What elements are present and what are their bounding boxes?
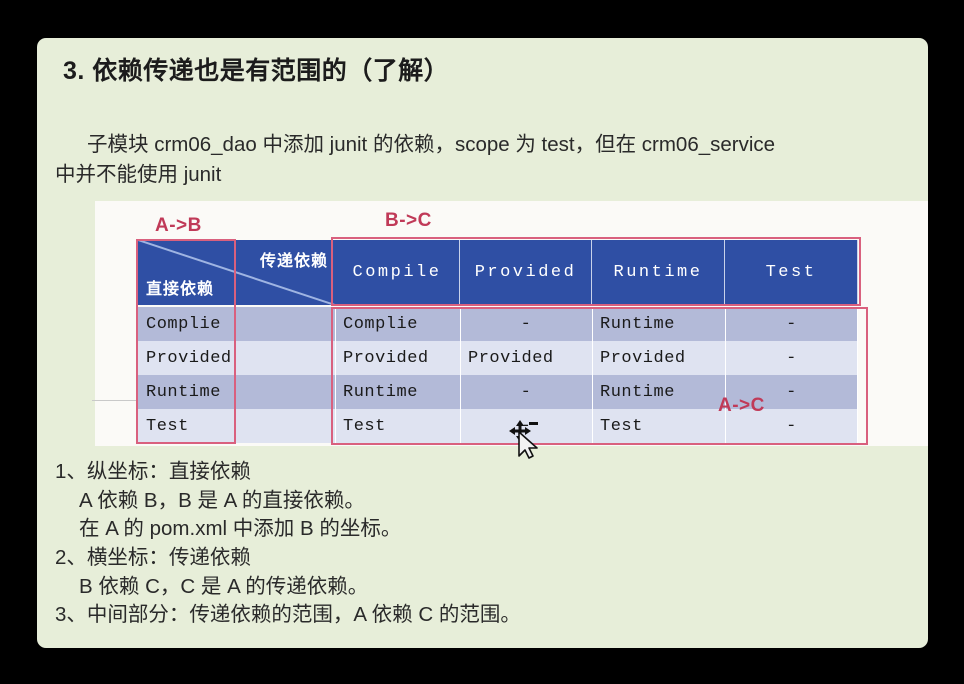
move-cursor [503,416,549,462]
row-spacer-cell [235,409,335,443]
cell-test-compile: Test [335,409,460,443]
grid-line [725,307,726,443]
note-item-3-title: 3、中间部分：传递依赖的范围，A 依赖 C 的范围。 [55,601,521,630]
row-header-complie: Complie [138,307,235,341]
cell-provided-runtime: Provided [592,341,725,375]
note-item-1-line1-wrap: A 依赖 B，B 是 A 的直接依赖。 [55,487,521,516]
grid-line [592,307,593,443]
cell-complie-test: - [725,307,858,341]
corner-label-direct: 直接依赖 [146,275,214,299]
cell-runtime-compile: Runtime [335,375,460,409]
column-header-test: Test [725,240,858,305]
corner-label-transitive: 传递依赖 [260,247,328,271]
cell-runtime-provided: - [460,375,592,409]
note-item-1-title: 1、纵坐标：直接依赖 [55,458,521,487]
note-item-1-line1: A 依赖 B，B 是 A 的直接依赖。 [79,489,365,512]
column-header-runtime: Runtime [592,240,725,305]
cell-test-runtime: Test [592,409,725,443]
grid-line [335,307,336,443]
grid-line [235,307,236,443]
row-spacer-cell [235,341,335,375]
cell-provided-compile: Provided [335,341,460,375]
row-spacer-cell [235,375,335,409]
cell-runtime-runtime: Runtime [592,375,725,409]
cell-complie-provided: - [460,307,592,341]
notes-list: 1、纵坐标：直接依赖 A 依赖 B，B 是 A 的直接依赖。 在 A 的 pom… [55,458,521,630]
annotation-label-a-to-c: A->C [718,395,765,417]
note-item-2-line1: B 依赖 C，C 是 A 的传递依赖。 [79,575,368,598]
row-header-provided: Provided [138,341,235,375]
table-corner-cell: 传递依赖 直接依赖 [138,240,335,305]
row-spacer-cell [235,307,335,341]
annotation-label-b-to-c: B->C [385,210,432,232]
annotation-label-a-to-b: A->B [155,215,202,237]
note-item-1-line2-wrap: 在 A 的 pom.xml 中添加 B 的坐标。 [55,515,521,544]
row-header-test: Test [138,409,235,443]
cell-complie-runtime: Runtime [592,307,725,341]
note-item-2-line1-wrap: B 依赖 C，C 是 A 的传递依赖。 [55,573,521,602]
grid-line [460,307,461,443]
cell-provided-test: - [725,341,858,375]
note-item-2-title: 2、横坐标：传递依赖 [55,544,521,573]
note-item-1-line2: 在 A 的 pom.xml 中添加 B 的坐标。 [79,517,401,540]
grid-line [857,307,858,443]
row-header-runtime: Runtime [138,375,235,409]
slide-canvas: 3. 依赖传递也是有范围的（了解） 子模块 crm06_dao 中添加 juni… [37,38,928,648]
cell-complie-compile: Complie [335,307,460,341]
column-header-provided: Provided [460,240,592,305]
cell-provided-provided: Provided [460,341,592,375]
column-header-compile: Compile [335,240,460,305]
